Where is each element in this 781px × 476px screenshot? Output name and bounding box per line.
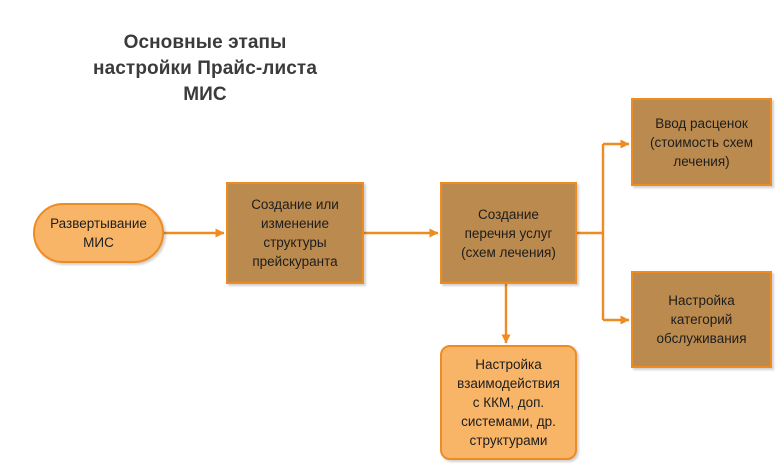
- node-create-services-list[interactable]: Создание перечня услуг (схем лечения): [440, 182, 577, 284]
- node-deploy-mis-label: Развертывание МИС: [50, 214, 147, 252]
- node-create-services-list-label: Создание перечня услуг (схем лечения): [461, 205, 556, 262]
- node-create-or-change-structure[interactable]: Создание или изменение структуры прейску…: [226, 182, 364, 284]
- node-deploy-mis[interactable]: Развертывание МИС: [33, 203, 164, 263]
- node-integration-setup-label: Настройка взаимодействия с ККМ, доп. сис…: [457, 355, 560, 450]
- diagram-title: Основные этапы настройки Прайс-листа МИС: [60, 30, 350, 108]
- connector-services-split: [577, 144, 603, 320]
- node-integration-setup[interactable]: Настройка взаимодействия с ККМ, доп. сис…: [440, 345, 577, 460]
- node-service-categories-setup[interactable]: Настройка категорий обслуживания: [631, 271, 772, 368]
- node-create-or-change-structure-label: Создание или изменение структуры прейску…: [251, 195, 339, 271]
- node-service-categories-setup-label: Настройка категорий обслуживания: [656, 291, 746, 348]
- node-enter-prices[interactable]: Ввод расценок (стоимость схем лечения): [631, 98, 772, 186]
- node-enter-prices-label: Ввод расценок (стоимость схем лечения): [650, 114, 753, 171]
- diagram-canvas: Основные этапы настройки Прайс-листа МИС: [0, 0, 781, 476]
